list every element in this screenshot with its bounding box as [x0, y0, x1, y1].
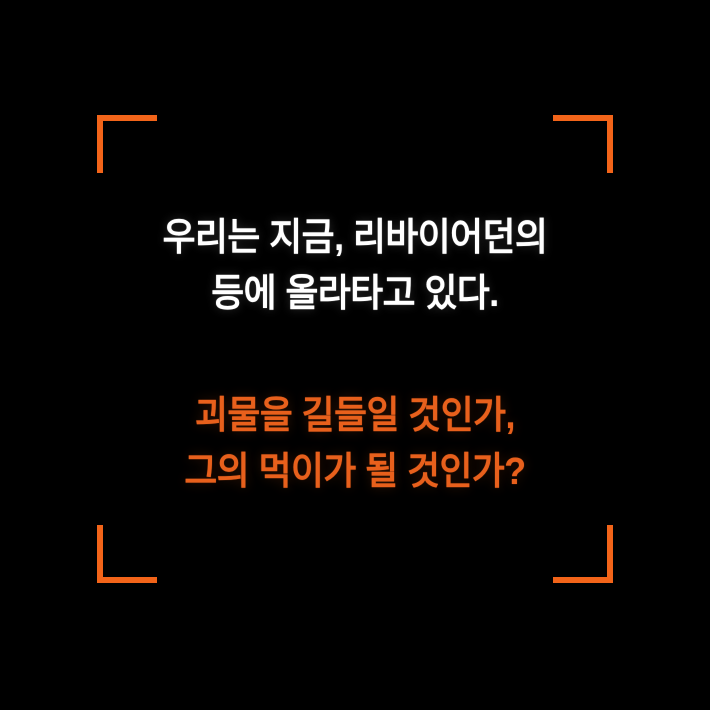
quote-primary-line-2: 등에 올라타고 있다. [21, 266, 688, 322]
quote-accent-line-1: 괴물을 길들일 것인가, [21, 388, 688, 444]
quote-stanza-accent: 괴물을 길들일 것인가, 그의 먹이가 될 것인가? [0, 388, 710, 500]
quote-stanza-primary: 우리는 지금, 리바이어던의 등에 올라타고 있다. [0, 210, 710, 322]
quote-card: 우리는 지금, 리바이어던의 등에 올라타고 있다. 괴물을 길들일 것인가, … [0, 0, 710, 710]
quote-accent-line-2: 그의 먹이가 될 것인가? [21, 444, 688, 500]
quote-primary-line-1: 우리는 지금, 리바이어던의 [21, 210, 688, 266]
quote-text-block: 우리는 지금, 리바이어던의 등에 올라타고 있다. 괴물을 길들일 것인가, … [0, 0, 710, 710]
